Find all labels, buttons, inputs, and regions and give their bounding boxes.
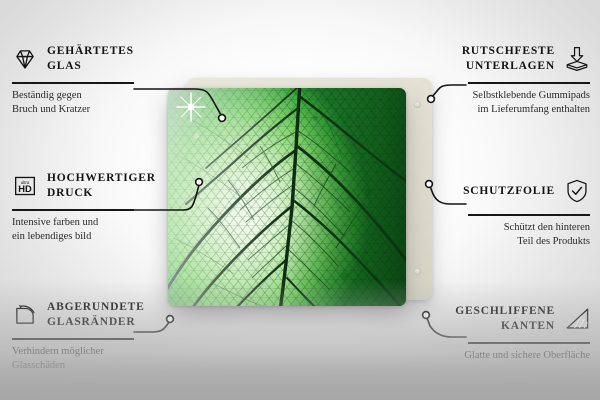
feature-subtitle: Schützt den hinteren Teil des Produkts [390, 221, 590, 249]
feature-header: GEHÄRTETES GLAS [12, 36, 212, 82]
feature-title-line2: GLAS [47, 59, 134, 74]
feature-title-line2: UNTERLAGEN [462, 59, 555, 74]
feature-sub-line2: Teil des Produkts [390, 235, 590, 249]
feature-title-line2: DRUCK [47, 186, 156, 201]
feature-schutzfolie: SCHUTZFOLIE Schützt den hinteren Teil de… [390, 168, 590, 249]
feature-sub-line1: Beständig gegen [12, 89, 212, 103]
feature-sub-line1: Selbstklebende Gummipads [390, 89, 590, 103]
feature-title: ABGERUNDETE GLASRÄNDER [47, 300, 145, 330]
feature-sub-line2: Bruch und Kratzer [12, 103, 212, 117]
feature-subtitle: Beständig gegen Bruch und Kratzer [12, 89, 212, 117]
feature-title: GEHÄRTETES GLAS [47, 44, 134, 74]
feature-title: RUTSCHFESTE UNTERLAGEN [462, 44, 555, 74]
feature-title: SCHUTZFOLIE [463, 184, 555, 199]
feature-title-line1: HOCHWERTIGER [47, 171, 156, 186]
feature-rule [12, 82, 134, 84]
feature-abgerundete-glasraender: ABGERUNDETE GLASRÄNDER Verhindern möglic… [12, 292, 212, 373]
shield-check-icon [564, 178, 590, 204]
ultra-hd-icon-large-text: HD [18, 184, 32, 194]
feature-sub-line2: im Lieferumfang enthalten [390, 103, 590, 117]
feature-title-line1: GEHÄRTETES [47, 44, 134, 59]
feature-title: HOCHWERTIGER DRUCK [47, 171, 156, 201]
feature-hochwertiger-druck: ultra HD HOCHWERTIGER DRUCK Intensive fa… [12, 163, 212, 244]
feature-sub-line1: Intensive farben und [12, 216, 212, 230]
feature-title-line1: ABGERUNDETE [47, 300, 145, 315]
ultra-hd-icon: ultra HD [12, 173, 38, 199]
feature-subtitle: Selbstklebende Gummipads im Lieferumfang… [390, 89, 590, 117]
feature-sub-line2: Glasschäden [12, 359, 212, 373]
anti-slip-pad-icon [564, 46, 590, 72]
polished-edges-icon [564, 306, 590, 332]
feature-sub-line1: Glatte und sichere Oberfläche [390, 349, 590, 363]
feature-header: GESCHLIFFENE KANTEN [390, 296, 590, 342]
feature-sub-line2: ein lebendiges bild [12, 230, 212, 244]
feature-rule [468, 82, 590, 84]
infographic-canvas: GEHÄRTETES GLAS Beständig gegen Bruch un… [0, 0, 600, 400]
feature-rutschfeste-unterlagen: RUTSCHFESTE UNTERLAGEN Selbstklebende Gu… [390, 36, 590, 117]
rubber-pad-bottom [414, 268, 421, 275]
feature-title-line1: GESCHLIFFENE [455, 304, 555, 319]
feature-header: SCHUTZFOLIE [390, 168, 590, 214]
feature-subtitle: Verhindern möglicher Glasschäden [12, 345, 212, 373]
rounded-corner-icon [12, 302, 38, 328]
feature-rule [468, 342, 590, 344]
feature-sub-line1: Verhindern möglicher [12, 345, 212, 359]
feature-title: GESCHLIFFENE KANTEN [455, 304, 555, 334]
feature-title-line1: RUTSCHFESTE [462, 44, 555, 59]
feature-header: RUTSCHFESTE UNTERLAGEN [390, 36, 590, 82]
feature-geschliffene-kanten: GESCHLIFFENE KANTEN Glatte und sichere O… [390, 296, 590, 363]
feature-sub-line1: Schützt den hinteren [390, 221, 590, 235]
feature-gehaertetes-glas: GEHÄRTETES GLAS Beständig gegen Bruch un… [12, 36, 212, 117]
feature-subtitle: Intensive farben und ein lebendiges bild [12, 216, 212, 244]
feature-rule [12, 338, 134, 340]
feature-rule [12, 209, 134, 211]
feature-title-line2: KANTEN [455, 319, 555, 334]
feature-header: ABGERUNDETE GLASRÄNDER [12, 292, 212, 338]
feature-rule [468, 214, 590, 216]
diamond-icon [12, 46, 38, 72]
feature-title-line2: GLASRÄNDER [47, 315, 145, 330]
feature-header: ultra HD HOCHWERTIGER DRUCK [12, 163, 212, 209]
feature-subtitle: Glatte und sichere Oberfläche [390, 349, 590, 363]
feature-title-line1: SCHUTZFOLIE [463, 184, 555, 199]
